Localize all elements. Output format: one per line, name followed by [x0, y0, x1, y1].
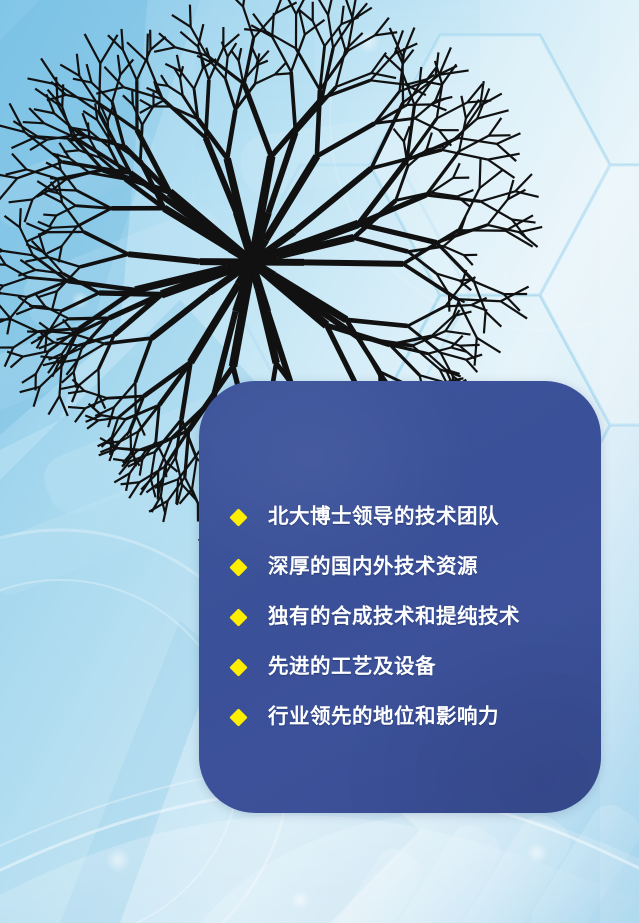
list-item-label: 先进的工艺及设备 — [268, 657, 436, 678]
list-item[interactable]: 北大博士领导的技术团队 — [232, 492, 582, 542]
diamond-bullet-icon — [229, 558, 247, 576]
diamond-bullet-icon — [229, 608, 247, 626]
poster-root: 北大博士领导的技术团队 深厚的国内外技术资源 独有的合成技术和提纯技术 先进的工… — [0, 0, 639, 923]
bg-edge-band — [600, 0, 639, 923]
list-item-label: 独有的合成技术和提纯技术 — [268, 607, 520, 628]
feature-bullet-list: 北大博士领导的技术团队 深厚的国内外技术资源 独有的合成技术和提纯技术 先进的工… — [232, 492, 582, 742]
list-item[interactable]: 先进的工艺及设备 — [232, 642, 582, 692]
list-item[interactable]: 行业领先的地位和影响力 — [232, 692, 582, 742]
list-item-label: 行业领先的地位和影响力 — [268, 707, 499, 728]
list-item[interactable]: 深厚的国内外技术资源 — [232, 542, 582, 592]
list-item-label: 深厚的国内外技术资源 — [268, 557, 478, 578]
diamond-bullet-icon — [229, 508, 247, 526]
list-item[interactable]: 独有的合成技术和提纯技术 — [232, 592, 582, 642]
diamond-bullet-icon — [229, 658, 247, 676]
bg-hexagon-fills — [370, 35, 639, 425]
diamond-bullet-icon — [229, 708, 247, 726]
list-item-label: 北大博士领导的技术团队 — [268, 507, 499, 528]
